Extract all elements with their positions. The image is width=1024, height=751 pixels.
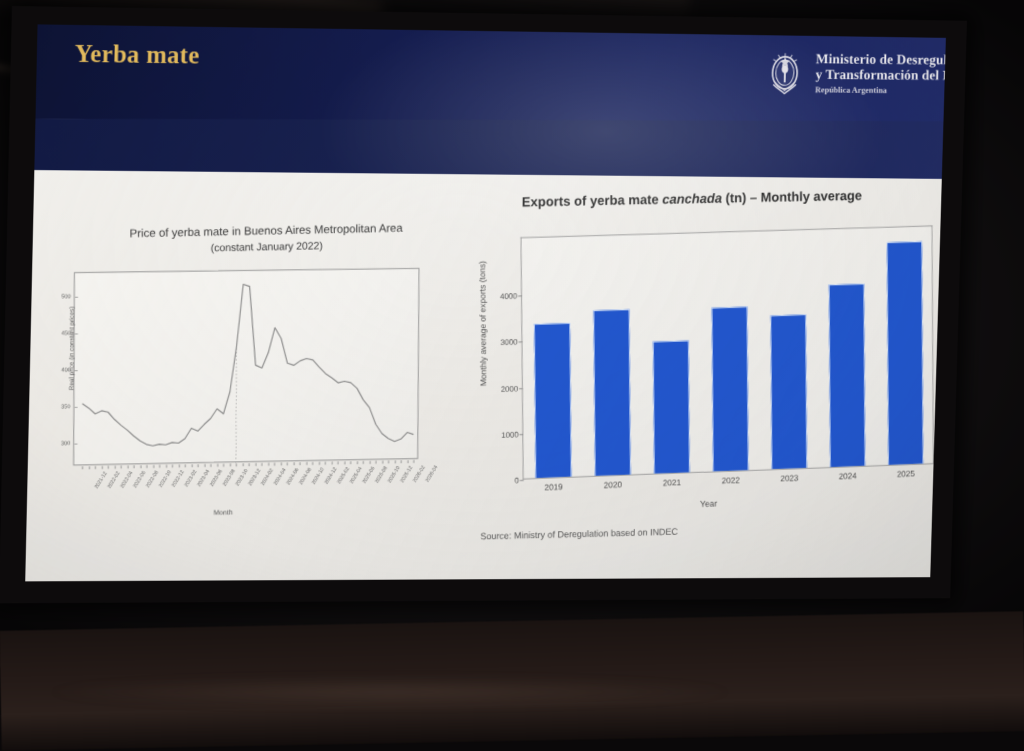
line-chart-x-tick-mark bbox=[394, 460, 395, 463]
line-chart-x-tick-mark bbox=[223, 464, 224, 467]
bar-chart-title: Exports of yerba mate canchada (tn) – Mo… bbox=[522, 186, 946, 209]
line-chart-x-tick-mark bbox=[204, 464, 205, 467]
line-chart-x-tick-mark bbox=[255, 463, 256, 466]
bar-chart-x-tick: 2024 bbox=[839, 471, 857, 481]
bar[interactable] bbox=[886, 241, 923, 465]
bar-chart-x-tick: 2023 bbox=[780, 473, 798, 483]
ministry-logo-block: Ministerio de Desregulación y Transforma… bbox=[763, 48, 946, 100]
line-chart-x-tick-mark bbox=[198, 464, 199, 467]
page-title: Yerba mate bbox=[74, 41, 199, 71]
line-chart-x-tick-mark bbox=[325, 462, 326, 465]
bar[interactable] bbox=[770, 314, 807, 469]
line-chart-x-tick-mark bbox=[236, 463, 237, 466]
bar-chart-y-tick-mark bbox=[519, 388, 523, 389]
line-chart-x-tick-mark bbox=[312, 462, 313, 465]
bar-chart-x-tick: 2021 bbox=[663, 477, 681, 487]
line-chart-x-tick-mark bbox=[114, 466, 115, 469]
ministry-subtitle: República Argentina bbox=[815, 86, 946, 96]
bar-chart-x-tick: 2025 bbox=[897, 469, 915, 479]
bar-chart-source-note: Source: Ministry of Deregulation based o… bbox=[480, 526, 678, 541]
line-chart-x-tick-mark bbox=[306, 462, 307, 465]
line-chart-x-tick-mark bbox=[191, 464, 192, 467]
bar-chart-x-tick: 2020 bbox=[604, 480, 622, 490]
bar-chart-y-tick: 3000 bbox=[500, 338, 517, 347]
bar-chart-title-suffix: (tn) – Monthly average bbox=[722, 188, 862, 205]
bar-chart-y-tick: 4000 bbox=[500, 292, 517, 301]
line-chart-x-tick-mark bbox=[338, 462, 339, 465]
presentation-slide: Ministerio de Desregulación y Transforma… bbox=[25, 24, 946, 581]
line-chart-x-tick-mark bbox=[159, 465, 160, 468]
line-chart-x-tick-mark bbox=[287, 463, 288, 466]
bar[interactable] bbox=[711, 306, 749, 471]
line-chart-x-tick-mark bbox=[88, 466, 89, 469]
bar[interactable] bbox=[593, 309, 631, 476]
line-chart-x-tick-mark bbox=[274, 463, 275, 466]
argentina-coat-of-arms-icon bbox=[763, 48, 808, 99]
ministry-line-2: y Transformación del Estado bbox=[815, 68, 946, 85]
line-chart-x-tick-mark bbox=[178, 465, 179, 468]
line-chart-x-tick-mark bbox=[127, 466, 128, 469]
bar-chart-title-prefix: Exports of yerba mate bbox=[522, 192, 663, 209]
line-chart-x-tick-mark bbox=[413, 460, 414, 463]
line-chart-x-tick-mark bbox=[375, 461, 376, 464]
bar-chart-bars-container bbox=[521, 226, 932, 478]
line-chart-x-tick-mark bbox=[121, 466, 122, 469]
line-chart-x-tick-mark bbox=[388, 461, 389, 464]
bar-chart-x-tick: 2019 bbox=[544, 482, 562, 492]
line-chart-x-tick-mark bbox=[319, 462, 320, 465]
price-line bbox=[82, 282, 414, 447]
bar-chart-y-tick: 2000 bbox=[501, 384, 518, 393]
line-chart-x-tick-mark bbox=[382, 461, 383, 464]
bar-chart-y-tick-mark bbox=[519, 434, 523, 435]
ministry-name: Ministerio de Desregulación y Transforma… bbox=[815, 53, 946, 97]
line-chart-x-tick-mark bbox=[249, 463, 250, 466]
line-chart-x-tick-mark bbox=[108, 466, 109, 469]
bar-chart-y-tick-mark bbox=[519, 342, 523, 343]
peak-reference-line bbox=[236, 345, 237, 464]
line-chart-x-tick-mark bbox=[300, 462, 301, 465]
line-chart-x-tick-mark bbox=[230, 464, 231, 467]
line-chart-x-tick-mark bbox=[82, 466, 83, 469]
bar-chart-x-tick: 2022 bbox=[722, 475, 740, 485]
line-chart-x-tick-mark bbox=[350, 461, 351, 464]
line-chart-x-tick-mark bbox=[357, 461, 358, 464]
projection-screen: Ministerio de Desregulación y Transforma… bbox=[0, 6, 967, 603]
line-chart-x-tick-mark bbox=[134, 465, 135, 468]
slide-body: Price of yerba mate in Buenos Aires Metr… bbox=[25, 170, 942, 581]
bar-chart-y-tick-mark bbox=[520, 480, 524, 481]
line-chart-x-tick-mark bbox=[217, 464, 218, 467]
line-chart-y-tick: 500 bbox=[51, 294, 71, 300]
bar-chart-x-axis-label: Year bbox=[700, 499, 717, 509]
line-chart-x-tick-mark bbox=[185, 464, 186, 467]
line-chart-x-axis-label: Month bbox=[214, 510, 233, 517]
bar-chart-title-italic-word: canchada bbox=[662, 191, 722, 207]
line-chart-y-tick: 400 bbox=[51, 367, 71, 373]
line-chart-x-tick-mark bbox=[153, 465, 154, 468]
line-chart-y-tick: 350 bbox=[51, 404, 71, 410]
bar[interactable] bbox=[534, 323, 572, 478]
line-chart-x-tick-mark bbox=[280, 463, 281, 466]
line-chart-x-tick-mark bbox=[210, 464, 211, 467]
line-chart-title: Price of yerba mate in Buenos Aires Metr… bbox=[89, 220, 442, 260]
line-chart-x-tick-mark bbox=[172, 465, 173, 468]
line-chart-x-tick-mark bbox=[95, 466, 96, 469]
line-chart-x-tick-mark bbox=[369, 461, 370, 464]
bar-chart-y-tick-mark bbox=[518, 296, 522, 297]
bar[interactable] bbox=[653, 340, 691, 473]
line-chart-x-tick-mark bbox=[261, 463, 262, 466]
line-chart-x-tick-mark bbox=[344, 461, 345, 464]
line-chart-x-tick-mark bbox=[401, 460, 402, 463]
line-chart-x-tick-mark bbox=[293, 462, 294, 465]
line-chart-x-tick-mark bbox=[166, 465, 167, 468]
line-chart-panel: Price of yerba mate in Buenos Aires Metr… bbox=[35, 223, 456, 551]
line-chart-x-tick-mark bbox=[363, 461, 364, 464]
bar-chart-panel: Exports of yerba mate canchada (tn) – Mo… bbox=[457, 188, 946, 550]
line-chart-x-tick-mark bbox=[407, 460, 408, 463]
line-chart-x-tick-mark bbox=[242, 463, 243, 466]
line-chart-title-line1: Price of yerba mate in Buenos Aires Metr… bbox=[130, 222, 403, 240]
bar-chart-plot-area: Monthly average of exports (tons) 201920… bbox=[521, 225, 934, 479]
line-chart-y-tick: 300 bbox=[50, 440, 70, 446]
bar[interactable] bbox=[828, 283, 865, 467]
line-chart-x-tick-mark bbox=[146, 465, 147, 468]
slide-header-bar: Ministerio de Desregulación y Transforma… bbox=[32, 24, 946, 124]
line-chart-plot-area: Real price (in constant prices) 30035040… bbox=[73, 268, 419, 466]
line-chart-title-line2: (constant January 2022) bbox=[211, 241, 323, 255]
line-chart-x-tick-mark bbox=[331, 462, 332, 465]
bar-chart-y-axis-label: Monthly average of exports (tons) bbox=[477, 261, 488, 387]
line-chart-x-tick-mark bbox=[268, 463, 269, 466]
table-reflection bbox=[40, 677, 740, 707]
line-chart-x-tick-mark bbox=[140, 465, 141, 468]
bar-chart-y-tick: 0 bbox=[515, 476, 519, 485]
line-chart-series bbox=[74, 269, 420, 467]
bar-chart-y-tick: 1000 bbox=[501, 430, 518, 439]
line-chart-y-tick: 450 bbox=[51, 330, 71, 336]
line-chart-x-tick-mark bbox=[101, 466, 102, 469]
